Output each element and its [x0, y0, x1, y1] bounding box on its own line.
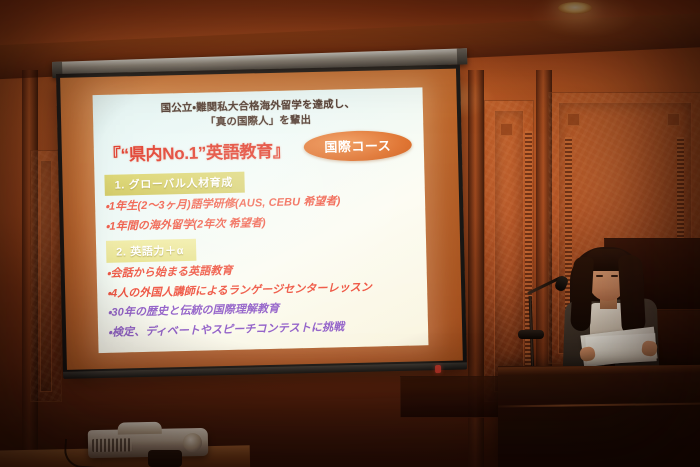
presentation-room-photo: 国公立・難関私大合格海外留学を達成し、 「真の国際人」を輩出 『“県内No.1”…	[0, 0, 700, 467]
scene-vignette	[0, 0, 700, 467]
